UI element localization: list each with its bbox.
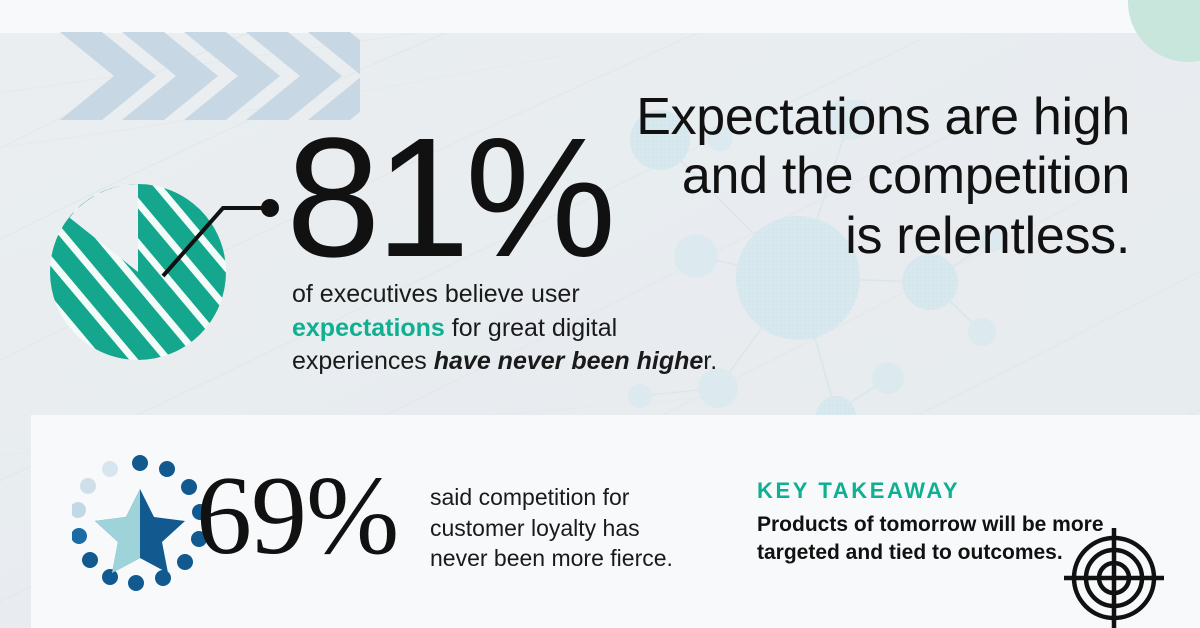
stat-expectations-line2: for great digital [445,314,617,342]
stat-expectations-line1: of executives believe user [292,280,580,308]
stat-loyalty-description: said competition for customer loyalty ha… [430,482,710,574]
pie-leader-line [155,178,305,278]
mint-circle-top-right [1128,0,1200,62]
stat-expectations-emphasis: have never been highe [434,347,704,375]
stat-expectations-highlight: expectations [292,314,445,342]
stat-loyalty-line3: never been more fierce. [430,545,673,571]
stat-expectations-description: of executives believe user expectations … [292,278,752,379]
key-takeaway-line2: targeted and tied to outcomes. [757,541,1063,564]
crosshair-target-icon [1058,522,1170,628]
stat-expectations-value: 81% [286,118,611,280]
stat-expectations-tail: r. [703,347,717,375]
star-badge-icon [72,455,208,591]
stat-expectations-line3: experiences [292,347,434,375]
stat-loyalty-line2: customer loyalty has [430,515,640,541]
key-takeaway-line1: Products of tomorrow will be more [757,513,1104,536]
key-takeaway-label: KEY TAKEAWAY [757,478,960,504]
infographic-canvas: Expectations are high and the competitio… [0,0,1200,628]
stat-loyalty-value: 69% [196,460,398,572]
stat-loyalty-line1: said competition for [430,484,629,510]
